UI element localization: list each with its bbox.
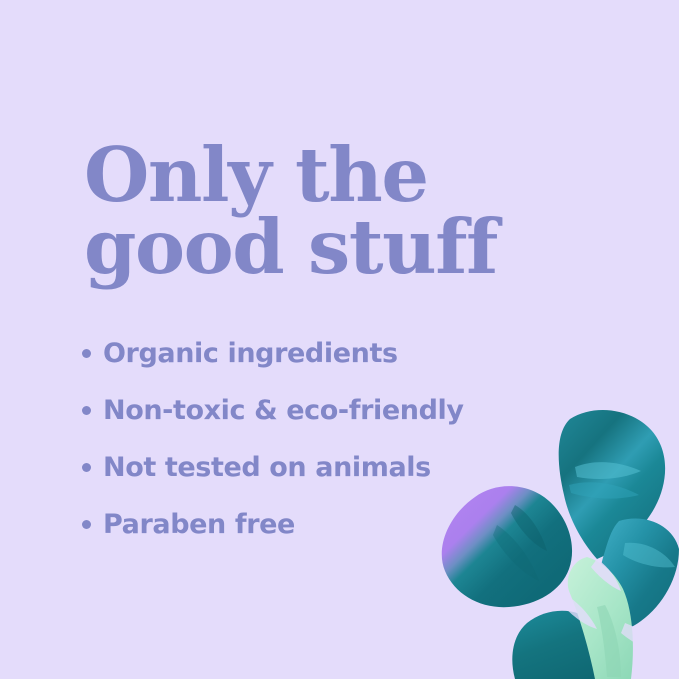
benefit-label: Not tested on animals (103, 454, 431, 481)
list-item: Non-toxic & eco-friendly (82, 382, 642, 439)
benefits-list: Organic ingredients Non-toxic & eco-frie… (82, 325, 642, 553)
flower-center-mint (568, 557, 633, 679)
list-item: Paraben free (82, 496, 642, 553)
page-title-line-2: good stuff (84, 211, 624, 283)
benefit-label: Non-toxic & eco-friendly (103, 397, 464, 424)
flower-petal-bottom (512, 611, 614, 679)
page-title: Only the good stuff (84, 139, 624, 283)
bullet-dot-icon (82, 463, 91, 472)
benefit-label: Organic ingredients (103, 340, 398, 367)
product-benefits-poster: Only the good stuff Organic ingredients … (0, 0, 679, 679)
benefit-label: Paraben free (103, 511, 295, 538)
list-item: Not tested on animals (82, 439, 642, 496)
page-title-line-1: Only the (84, 139, 624, 211)
bullet-dot-icon (82, 520, 91, 529)
bullet-dot-icon (82, 406, 91, 415)
bullet-dot-icon (82, 349, 91, 358)
list-item: Organic ingredients (82, 325, 642, 382)
